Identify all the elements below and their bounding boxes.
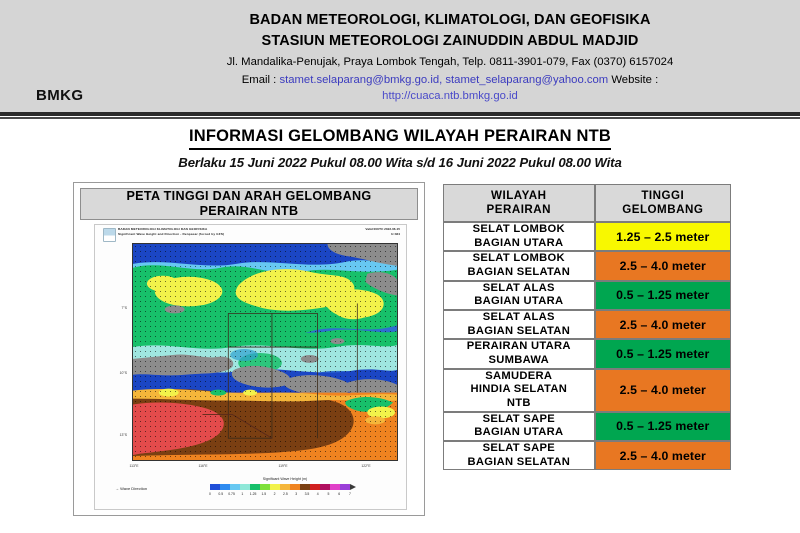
map-x-tick-3: 122°E	[351, 464, 381, 468]
cell-area-name: SELAT SAPEBAGIAN UTARA	[443, 412, 595, 441]
cell-wave-height: 2.5 – 4.0 meter	[595, 310, 731, 339]
map-panel-title: PETA TINGGI DAN ARAH GELOMBANG PERAIRAN …	[80, 188, 418, 220]
figure-agency-line: BADAN METEOROLOGI KLIMATOLOGI DAN GEOFIS…	[118, 227, 207, 231]
header-divider-thin	[0, 117, 800, 119]
page-title: INFORMASI GELOMBANG WILAYAH PERAIRAN NTB	[189, 126, 611, 150]
colorbar-tick: 3.5	[305, 492, 310, 496]
column-header-height: TINGGI GELOMBANG	[595, 184, 731, 222]
validity-period: Berlaku 15 Juni 2022 Pukul 08.00 Wita s/…	[0, 155, 800, 170]
figure-product-line: Significant Wave Height and Direction - …	[118, 232, 224, 236]
colorbar-segment	[250, 484, 260, 490]
map-title-line1: PETA TINGGI DAN ARAH GELOMBANG	[126, 189, 371, 203]
colorbar-tick: 1.5	[261, 492, 266, 496]
map-y-tick-0: 7°S	[101, 306, 127, 310]
table-row: SELAT LOMBOKBAGIAN UTARA1.25 – 2.5 meter	[443, 222, 731, 251]
area-line-2: BAGIAN UTARA	[474, 295, 563, 307]
area-line-2: BAGIAN UTARA	[474, 237, 563, 249]
cell-wave-height: 2.5 – 4.0 meter	[595, 441, 731, 470]
table-row: PERAIRAN UTARASUMBAWA0.5 – 1.25 meter	[443, 339, 731, 368]
area-line-2: SUMBAWA	[489, 354, 550, 366]
colorbar-tick: 2.5	[283, 492, 288, 496]
area-line-2: BAGIAN SELATAN	[467, 456, 570, 468]
cell-area-name: SELAT ALASBAGIAN SELATAN	[443, 310, 595, 339]
table-header-row: WILAYAH PERAIRAN TINGGI GELOMBANG	[443, 184, 731, 222]
column-header-area-l2: PERAIRAN	[487, 203, 552, 216]
document-title-block: INFORMASI GELOMBANG WILAYAH PERAIRAN NTB…	[0, 126, 800, 170]
colorbar-tick: 2	[274, 492, 276, 496]
map-figure: BADAN METEOROLOGI KLIMATOLOGI DAN GEOFIS…	[94, 224, 407, 510]
column-header-height-l2: GELOMBANG	[622, 203, 703, 216]
colorbar-tick: 5	[328, 492, 330, 496]
colorbar-segment	[260, 484, 270, 490]
table-body: SELAT LOMBOKBAGIAN UTARA1.25 – 2.5 meter…	[443, 222, 731, 470]
colorbar-segment	[330, 484, 340, 490]
table-row: SELAT SAPEBAGIAN SELATAN2.5 – 4.0 meter	[443, 441, 731, 470]
colorbar-tick: 0.5	[218, 492, 223, 496]
colorbar-segment	[320, 484, 330, 490]
area-line-2: HINDIA SELATAN	[470, 383, 567, 395]
cell-wave-height: 2.5 – 4.0 meter	[595, 251, 731, 280]
cell-area-name: SELAT LOMBOKBAGIAN UTARA	[443, 222, 595, 251]
table-row: SELAT ALASBAGIAN UTARA0.5 – 1.25 meter	[443, 281, 731, 310]
letterhead-text-block: BADAN METEOROLOGI, KLIMATOLOGI, DAN GEOF…	[120, 10, 780, 105]
cell-wave-height: 0.5 – 1.25 meter	[595, 339, 731, 368]
column-header-area-l1: WILAYAH	[491, 189, 546, 202]
colorbar-segment	[210, 484, 220, 490]
map-y-tick-2: 13°S	[101, 433, 127, 437]
map-figure-header: BADAN METEOROLOGI KLIMATOLOGI DAN GEOFIS…	[95, 227, 406, 242]
map-x-tick-0: 113°E	[119, 464, 149, 468]
email-label: Email :	[242, 74, 280, 86]
colorbar-tick: 7	[349, 492, 351, 496]
area-line-1: SELAT SAPE	[483, 442, 555, 454]
cell-wave-height: 0.5 – 1.25 meter	[595, 281, 731, 310]
area-line-1: SELAT ALAS	[483, 282, 555, 294]
address-line: Jl. Mandalika-Penujak, Praya Lombok Teng…	[120, 54, 780, 72]
cell-area-name: SELAT ALASBAGIAN UTARA	[443, 281, 595, 310]
cell-area-name: PERAIRAN UTARASUMBAWA	[443, 339, 595, 368]
cell-wave-height: 2.5 – 4.0 meter	[595, 369, 731, 412]
cell-area-name: SELAT SAPEBAGIAN SELATAN	[443, 441, 595, 470]
cell-wave-height: 1.25 – 2.5 meter	[595, 222, 731, 251]
area-line-1: SELAT LOMBOK	[473, 223, 565, 235]
area-line-1: SAMUDERA	[485, 370, 552, 382]
colorbar-tick: 0.75	[228, 492, 235, 496]
colorbar-arrow-icon	[350, 484, 356, 490]
wave-height-table: WILAYAH PERAIRAN TINGGI GELOMBANG SELAT …	[443, 184, 731, 470]
table-header: WILAYAH PERAIRAN TINGGI GELOMBANG	[443, 184, 731, 222]
website-line: http://cuaca.ntb.bmkg.go.id	[120, 88, 780, 104]
table-row: SELAT ALASBAGIAN SELATAN2.5 – 4.0 meter	[443, 310, 731, 339]
colorbar-tick: 3	[295, 492, 297, 496]
station-name-line: STASIUN METEOROLOGI ZAINUDDIN ABDUL MADJ…	[120, 31, 780, 52]
column-header-area: WILAYAH PERAIRAN	[443, 184, 595, 222]
map-title-line2: PERAIRAN NTB	[200, 204, 299, 218]
contact-line: Email : stamet.selaparang@bmkg.go.id, st…	[120, 72, 780, 89]
map-x-tick-1: 116°E	[188, 464, 218, 468]
cell-area-name: SAMUDERAHINDIA SELATANNTB	[443, 369, 595, 412]
website-link[interactable]: http://cuaca.ntb.bmkg.go.id	[382, 90, 518, 102]
area-line-2: BAGIAN UTARA	[474, 426, 563, 438]
colorbar-segment	[270, 484, 280, 490]
letterhead-banner: BMKG BADAN METEOROLOGI, KLIMATOLOGI, DAN…	[0, 0, 800, 112]
colorbar-segment	[280, 484, 290, 490]
table-row: SELAT SAPEBAGIAN UTARA0.5 – 1.25 meter	[443, 412, 731, 441]
colorbar-segment	[240, 484, 250, 490]
area-line-1: SELAT ALAS	[483, 311, 555, 323]
area-line-3: NTB	[507, 397, 531, 409]
table-row: SAMUDERAHINDIA SELATANNTB2.5 – 4.0 meter	[443, 369, 731, 412]
wave-direction-legend-label: → Wave Direction	[115, 486, 147, 491]
email-link-secondary[interactable]: stamet_selaparang@yahoo.com	[445, 74, 608, 86]
bmkg-logo-text: BMKG	[36, 88, 83, 103]
map-x-tick-2: 119°E	[268, 464, 298, 468]
colorbar-segment	[290, 484, 300, 490]
colorbar-segment	[300, 484, 310, 490]
colorbar-tick: 6	[338, 492, 340, 496]
colorbar-tick: 1	[241, 492, 243, 496]
map-y-tick-1: 10°S	[101, 371, 127, 375]
area-line-2: BAGIAN SELATAN	[467, 266, 570, 278]
colorbar-tick: 4	[317, 492, 319, 496]
table-row: SELAT LOMBOKBAGIAN SELATAN2.5 – 4.0 mete…	[443, 251, 731, 280]
colorbar-segment	[220, 484, 230, 490]
colorbar-segment	[340, 484, 350, 490]
colorbar-segment	[310, 484, 320, 490]
colorbar	[210, 484, 350, 490]
email-link-primary[interactable]: stamet.selaparang@bmkg.go.id,	[279, 74, 442, 86]
bmkg-emblem-icon	[103, 228, 116, 242]
wave-height-map	[132, 243, 398, 461]
header-divider-thick	[0, 112, 800, 116]
website-label: Website :	[608, 74, 658, 86]
figure-forecast-hour: h=024	[391, 232, 400, 236]
map-legend: → Wave Direction Significant Wave Height…	[115, 477, 395, 503]
colorbar-ticks: 00.50.7511.251.522.533.54567	[210, 492, 350, 500]
cell-wave-height: 0.5 – 1.25 meter	[595, 412, 731, 441]
map-panel: PETA TINGGI DAN ARAH GELOMBANG PERAIRAN …	[73, 182, 425, 516]
colorbar-tick: 1.25	[250, 492, 257, 496]
agency-name-line: BADAN METEOROLOGI, KLIMATOLOGI, DAN GEOF…	[120, 10, 780, 31]
column-header-height-l1: TINGGI	[641, 189, 684, 202]
colorbar-title: Significant Wave Height (m)	[210, 477, 360, 481]
area-line-1: SELAT SAPE	[483, 413, 555, 425]
area-line-2: BAGIAN SELATAN	[467, 325, 570, 337]
area-line-1: PERAIRAN UTARA	[467, 340, 571, 352]
colorbar-tick: 0	[209, 492, 211, 496]
colorbar-segment	[230, 484, 240, 490]
cell-area-name: SELAT LOMBOKBAGIAN SELATAN	[443, 251, 595, 280]
figure-valid-time: Valid 00UTC 2022-06-15	[365, 227, 400, 231]
area-line-1: SELAT LOMBOK	[473, 252, 565, 264]
wave-field-svg	[133, 244, 397, 460]
